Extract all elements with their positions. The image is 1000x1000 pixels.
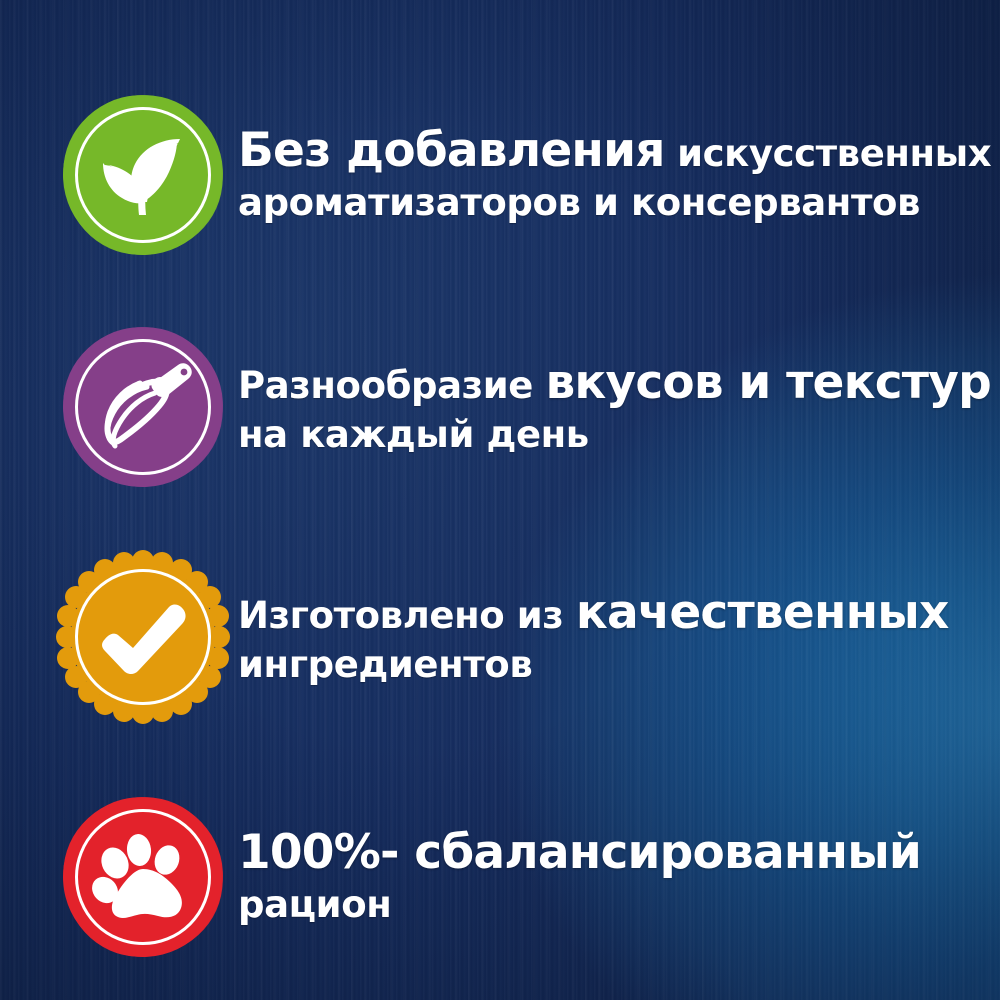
feature-text-segment: вкусов и текстур <box>545 355 990 410</box>
feature-text-segment: Изготовлено из <box>238 594 576 637</box>
feature-text-balanced-diet: 100%- сбалансированный рацион <box>238 829 1000 924</box>
feature-text-segment: 100%- сбалансированный <box>238 825 921 880</box>
feature-text-segment: ароматизаторов и консервантов <box>238 181 920 224</box>
feature-text-segment: Без добавления <box>238 123 665 178</box>
feature-text-variety-of-flavours: Разнообразие вкусов и текстур на каждый … <box>238 359 1000 454</box>
feature-row-quality-ingredients: Изготовлено из качественных ингредиентов <box>0 542 1000 732</box>
feature-row-no-artificial-additives: Без добавления искусственных ароматизато… <box>0 80 1000 270</box>
feature-list: Без добавления искусственных ароматизато… <box>0 0 1000 1000</box>
feature-text-quality-ingredients: Изготовлено из качественных ингредиентов <box>238 589 1000 684</box>
feature-text-segment: Разнообразие <box>238 364 545 407</box>
badge-no-artificial-additives <box>48 80 238 270</box>
feature-text-segment: искусственных <box>665 132 992 175</box>
paw-print-icon <box>83 817 203 937</box>
feature-text-segment: качественных <box>576 585 949 640</box>
feature-row-variety-of-flavours: Разнообразие вкусов и текстур на каждый … <box>0 312 1000 502</box>
badge-balanced-diet <box>48 782 238 972</box>
feature-text-segment: ингредиентов <box>238 643 532 686</box>
badge-quality-ingredients <box>48 542 238 732</box>
feature-text-no-artificial-additives: Без добавления искусственных ароматизато… <box>238 127 1000 222</box>
whisk-icon <box>83 347 203 467</box>
product-benefits-poster: Без добавления искусственных ароматизато… <box>0 0 1000 1000</box>
leaf-sprout-icon <box>83 115 203 235</box>
check-mark-icon <box>83 577 203 697</box>
feature-text-segment: на каждый день <box>238 413 589 456</box>
feature-row-balanced-diet: 100%- сбалансированный рацион <box>0 782 1000 972</box>
feature-text-segment: рацион <box>238 883 391 926</box>
badge-variety-of-flavours <box>48 312 238 502</box>
